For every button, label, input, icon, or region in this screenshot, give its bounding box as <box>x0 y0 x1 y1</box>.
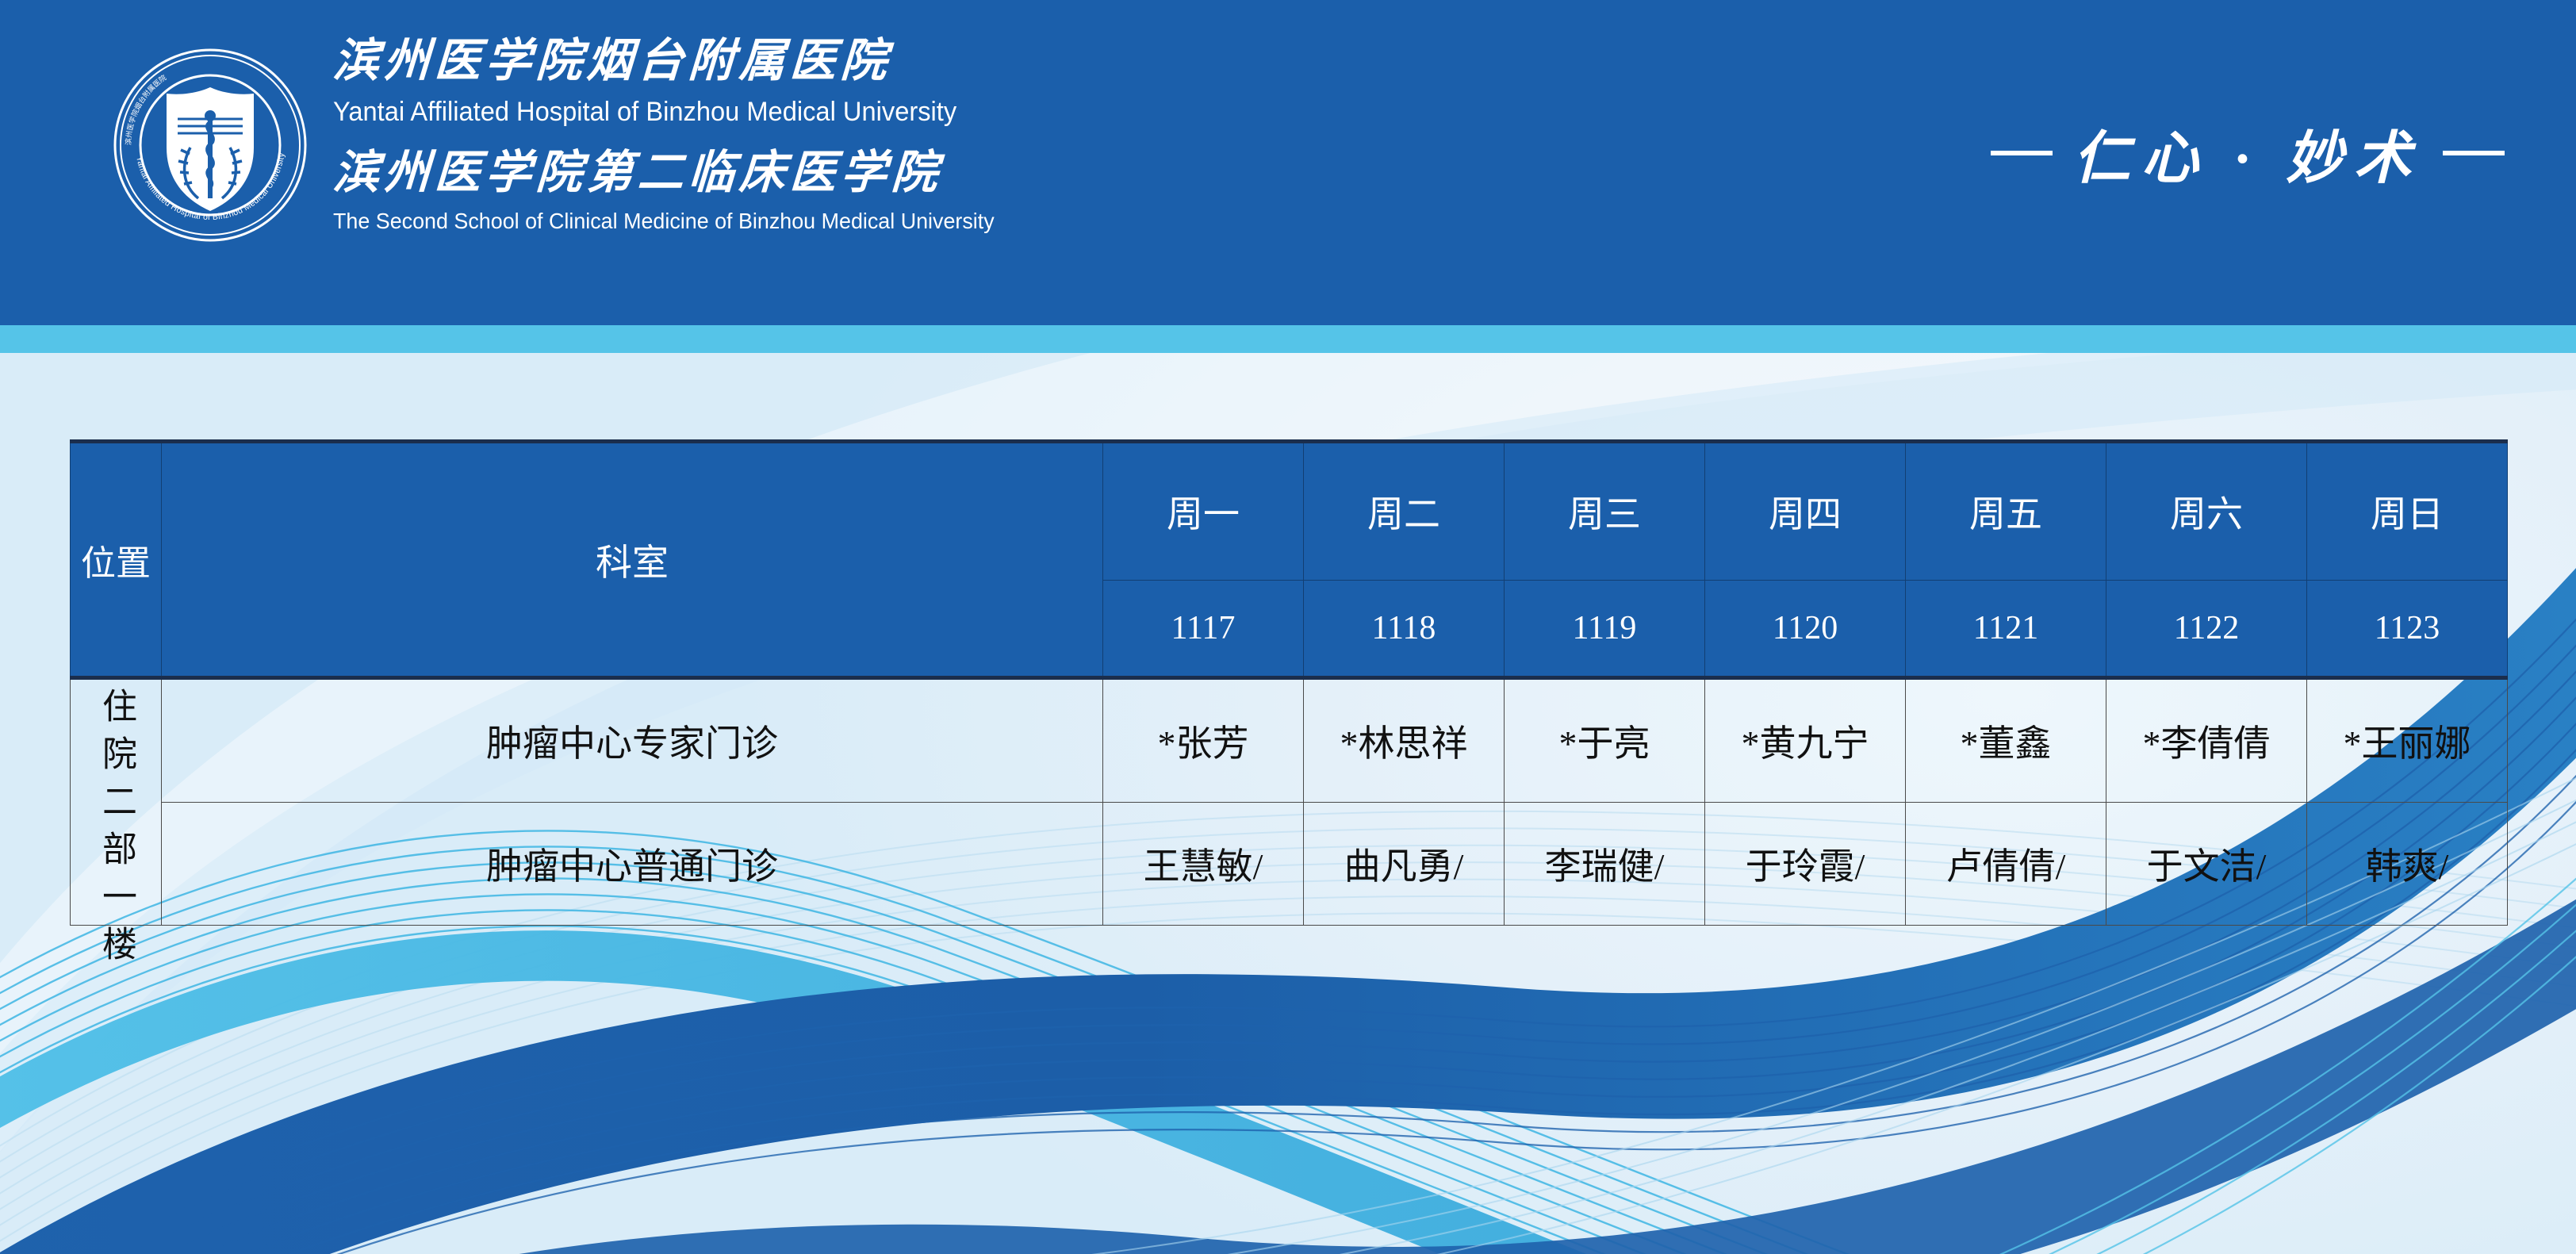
page-header: 滨州医学院烟台附属医院 Yantai Affiliated Hospital o… <box>0 0 2576 325</box>
column-header-date-0: 1117 <box>1103 581 1304 678</box>
doctor-cell-1-0: 王慧敏/ <box>1103 803 1304 926</box>
doctor-cell-1-5: 于文洁/ <box>2106 803 2307 926</box>
doctor-cell-1-3: 于玲霞/ <box>1705 803 1906 926</box>
department-cell-1: 肿瘤中心普通门诊 <box>162 803 1103 926</box>
hospital-name-en: Yantai Affiliated Hospital of Binzhou Me… <box>333 95 934 129</box>
header-accent-strip <box>0 325 2576 353</box>
doctor-cell-0-0: *张芳 <box>1103 678 1304 803</box>
hospital-emblem-icon: 滨州医学院烟台附属医院 Yantai Affiliated Hospital o… <box>111 46 309 244</box>
motto-dash-left <box>1991 151 2053 155</box>
column-header-day-2: 周三 <box>1505 442 1705 581</box>
doctor-cell-0-6: *王丽娜 <box>2307 678 2508 803</box>
doctor-cell-1-1: 曲凡勇/ <box>1304 803 1505 926</box>
column-header-day-3: 周四 <box>1705 442 1906 581</box>
column-header-day-1: 周二 <box>1304 442 1505 581</box>
hospital-motto: 仁心 · 妙术 <box>1991 111 2505 194</box>
position-label: 住院二部一楼 <box>98 688 133 973</box>
column-header-date-5: 1122 <box>2106 581 2307 678</box>
doctor-cell-0-4: *董鑫 <box>1906 678 2106 803</box>
motto-text: 仁心 · 妙术 <box>2073 111 2422 194</box>
school-name-en: The Second School of Clinical Medicine o… <box>333 207 934 235</box>
column-header-date-3: 1120 <box>1705 581 1906 678</box>
poster-canvas: 滨州医学院烟台附属医院 Yantai Affiliated Hospital o… <box>0 0 2576 1254</box>
column-header-date-1: 1118 <box>1304 581 1505 678</box>
column-header-department: 科室 <box>162 442 1103 678</box>
table-row: 住院二部一楼 肿瘤中心专家门诊 *张芳 *林思祥 *于亮 *黄九宁 *董鑫 *李… <box>71 678 2508 803</box>
hospital-name-cn: 滨州医学院烟台附属医院 <box>332 38 960 84</box>
column-header-date-6: 1123 <box>2307 581 2508 678</box>
header-title-block: 滨州医学院烟台附属医院 Yantai Affiliated Hospital o… <box>333 38 960 235</box>
position-cell: 住院二部一楼 <box>71 678 162 926</box>
header-row-days: 位置 科室 周一 周二 周三 周四 周五 周六 周日 <box>71 442 2508 581</box>
doctor-cell-1-4: 卢倩倩/ <box>1906 803 2106 926</box>
schedule-table-body: 住院二部一楼 肿瘤中心专家门诊 *张芳 *林思祥 *于亮 *黄九宁 *董鑫 *李… <box>71 678 2508 926</box>
column-header-date-4: 1121 <box>1906 581 2106 678</box>
motto-dash-right <box>2443 151 2505 155</box>
column-header-day-5: 周六 <box>2106 442 2307 581</box>
schedule-table-head: 位置 科室 周一 周二 周三 周四 周五 周六 周日 1117 1118 111… <box>71 442 2508 678</box>
table-row: 肿瘤中心普通门诊 王慧敏/ 曲凡勇/ 李瑞健/ 于玲霞/ 卢倩倩/ 于文洁/ 韩… <box>71 803 2508 926</box>
column-header-day-6: 周日 <box>2307 442 2508 581</box>
department-cell-0: 肿瘤中心专家门诊 <box>162 678 1103 803</box>
schedule-table-container: 位置 科室 周一 周二 周三 周四 周五 周六 周日 1117 1118 111… <box>70 439 2506 926</box>
doctor-cell-0-1: *林思祥 <box>1304 678 1505 803</box>
column-header-position: 位置 <box>71 442 162 678</box>
doctor-cell-0-3: *黄九宁 <box>1705 678 1906 803</box>
doctor-cell-0-2: *于亮 <box>1505 678 1705 803</box>
doctor-cell-1-6: 韩爽/ <box>2307 803 2508 926</box>
schedule-table: 位置 科室 周一 周二 周三 周四 周五 周六 周日 1117 1118 111… <box>70 439 2508 926</box>
column-header-date-2: 1119 <box>1505 581 1705 678</box>
doctor-cell-0-5: *李倩倩 <box>2106 678 2307 803</box>
column-header-day-0: 周一 <box>1103 442 1304 581</box>
doctor-cell-1-2: 李瑞健/ <box>1505 803 1705 926</box>
column-header-day-4: 周五 <box>1906 442 2106 581</box>
school-name-cn: 滨州医学院第二临床医学院 <box>332 150 960 196</box>
